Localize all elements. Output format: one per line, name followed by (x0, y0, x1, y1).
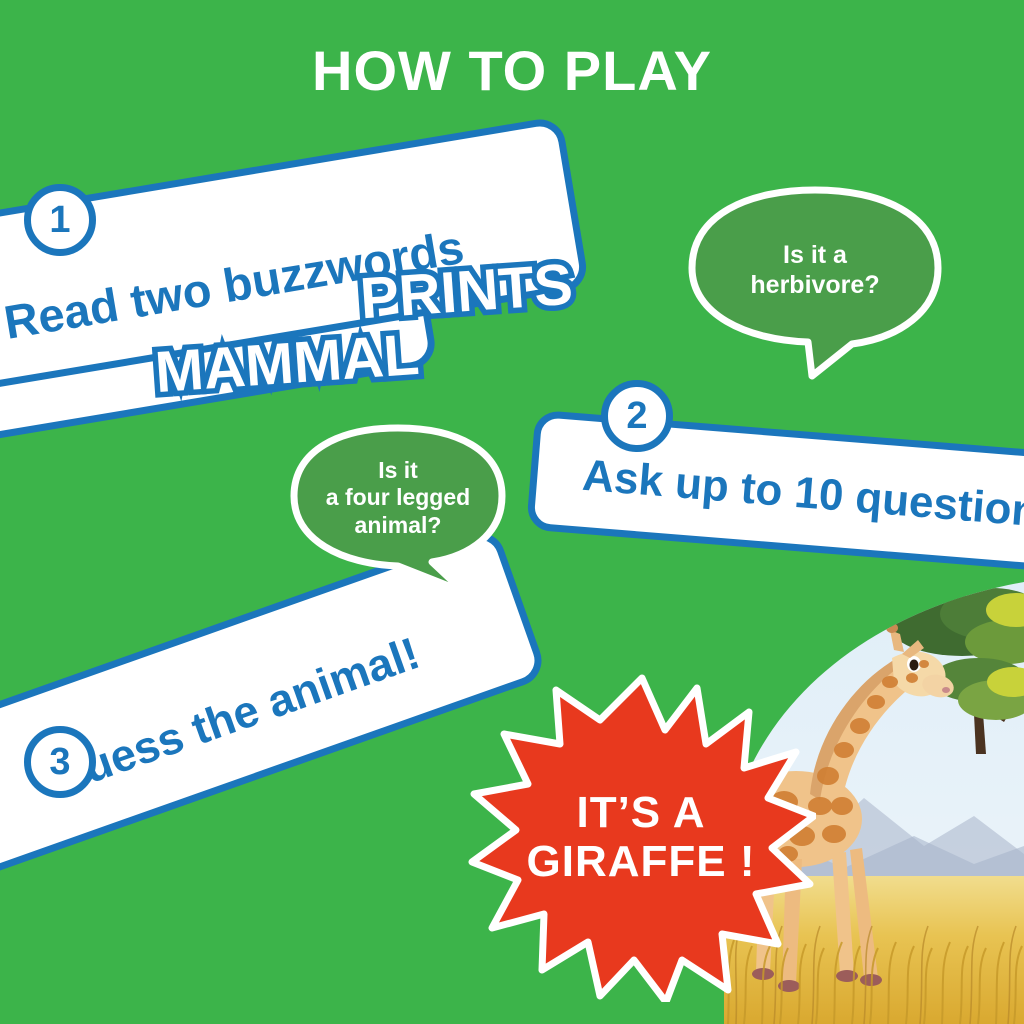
speech-bubble-four-legged: Is it a four legged animal? (288, 424, 508, 596)
step-3-label: Guess the animal! (43, 627, 426, 805)
poster-canvas: HOW TO PLAY Read two buzzwords 1 PRINTS … (0, 0, 1024, 1024)
step-2-banner[interactable]: Ask up to 10 questions (526, 410, 1024, 575)
step-2-label: Ask up to 10 questions (581, 451, 1024, 539)
step-3-badge: 3 (24, 726, 96, 798)
buzzword-prints: PRINTS (358, 251, 575, 333)
speech-bubble-herbivore: Is it a herbivore? (684, 186, 946, 381)
step-1-badge: 1 (24, 184, 96, 256)
step-2-badge: 2 (601, 380, 673, 452)
answer-starburst: IT’S A GIRAFFE ! (466, 672, 816, 1002)
page-title: HOW TO PLAY (0, 38, 1024, 103)
